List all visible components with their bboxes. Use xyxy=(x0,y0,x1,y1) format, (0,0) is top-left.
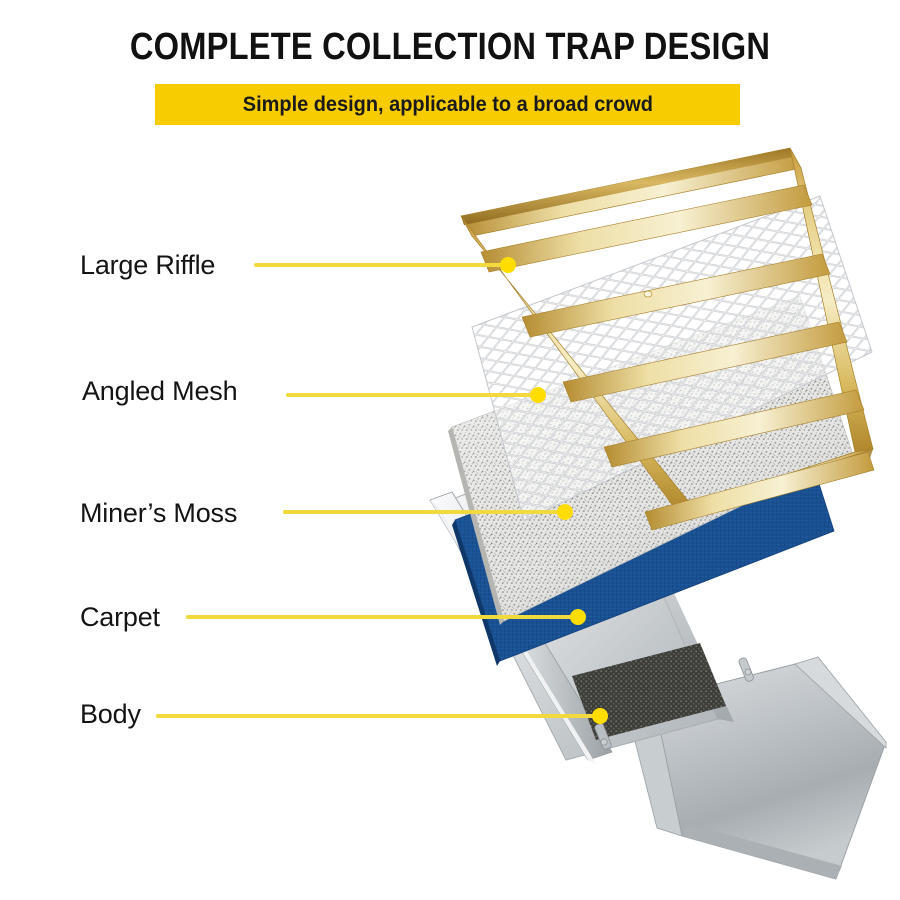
riffle-rivet-hole xyxy=(644,291,652,297)
callout-label-carpet: Carpet xyxy=(80,604,160,631)
exploded-product-diagram xyxy=(0,0,900,900)
callout-label-miners-moss: Miner’s Moss xyxy=(80,500,237,527)
callout-label-body: Body xyxy=(80,701,141,728)
callout-label-large-riffle: Large Riffle xyxy=(80,252,215,279)
infographic-page: COMPLETE COLLECTION TRAP DESIGN Simple d… xyxy=(0,0,900,900)
callout-label-angled-mesh: Angled Mesh xyxy=(82,378,237,405)
